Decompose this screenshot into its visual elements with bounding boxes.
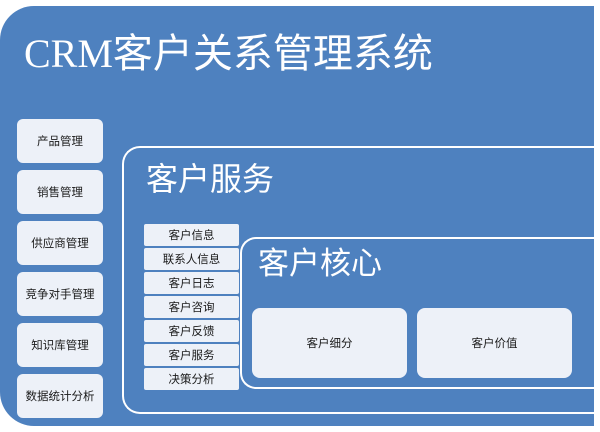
customer-service-panel-title: 客户服务: [146, 160, 274, 198]
core-box-label: 客户细分: [307, 335, 353, 351]
service-item-contact-info[interactable]: 联系人信息: [144, 248, 239, 270]
sidebar-item-label: 知识库管理: [31, 337, 89, 353]
service-item-label: 联系人信息: [163, 251, 221, 267]
sidebar-module-list: 产品管理 销售管理 供应商管理 竞争对手管理 知识库管理 数据统计分析: [17, 119, 103, 425]
page-title: CRM客户关系管理系统: [24, 30, 433, 78]
service-item-customer-consultation[interactable]: 客户咨询: [144, 296, 239, 318]
sidebar-item-knowledge-base-management[interactable]: 知识库管理: [17, 323, 103, 367]
core-box-label: 客户价值: [472, 335, 518, 351]
customer-core-panel-title: 客户核心: [258, 245, 382, 282]
service-item-label: 决策分析: [169, 371, 215, 387]
service-item-customer-info[interactable]: 客户信息: [144, 224, 239, 246]
service-item-customer-log[interactable]: 客户日志: [144, 272, 239, 294]
sidebar-item-data-statistics-analysis[interactable]: 数据统计分析: [17, 374, 103, 418]
sidebar-item-label: 供应商管理: [31, 235, 89, 251]
sidebar-item-label: 数据统计分析: [26, 388, 95, 404]
service-item-customer-feedback[interactable]: 客户反馈: [144, 320, 239, 342]
service-item-customer-service[interactable]: 客户服务: [144, 344, 239, 366]
sidebar-item-product-management[interactable]: 产品管理: [17, 119, 103, 163]
service-item-label: 客户咨询: [169, 299, 215, 315]
service-item-label: 客户日志: [169, 275, 215, 291]
sidebar-item-supplier-management[interactable]: 供应商管理: [17, 221, 103, 265]
customer-core-box-group: 客户细分 客户价值: [252, 308, 572, 378]
sidebar-item-sales-management[interactable]: 销售管理: [17, 170, 103, 214]
customer-service-item-list: 客户信息 联系人信息 客户日志 客户咨询 客户反馈 客户服务 决: [144, 224, 239, 392]
sidebar-item-label: 产品管理: [37, 133, 83, 149]
diagram-canvas: CRM客户关系管理系统 产品管理 销售管理 供应商管理 竞争对手管理 知识库管理…: [0, 0, 600, 432]
service-item-decision-analysis[interactable]: 决策分析: [144, 368, 239, 390]
customer-core-panel: 客户核心 客户细分 客户价值: [240, 237, 594, 389]
crm-system-panel: CRM客户关系管理系统 产品管理 销售管理 供应商管理 竞争对手管理 知识库管理…: [0, 6, 594, 426]
core-box-customer-segmentation[interactable]: 客户细分: [252, 308, 407, 378]
service-item-label: 客户服务: [169, 347, 215, 363]
sidebar-item-label: 竞争对手管理: [26, 286, 95, 302]
sidebar-item-label: 销售管理: [37, 184, 83, 200]
service-item-label: 客户信息: [169, 227, 215, 243]
sidebar-item-competitor-management[interactable]: 竞争对手管理: [17, 272, 103, 316]
core-box-customer-value[interactable]: 客户价值: [417, 308, 572, 378]
service-item-label: 客户反馈: [169, 323, 215, 339]
